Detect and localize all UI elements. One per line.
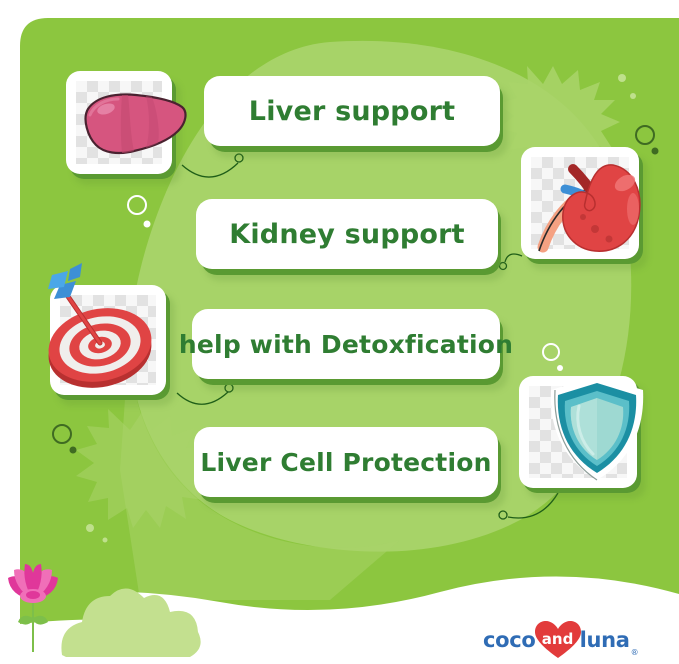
brand-logo[interactable]: coco and luna ® — [483, 620, 639, 660]
bottom-left-green-strip — [20, 560, 130, 624]
benefit-label: Kidney support — [229, 221, 465, 248]
icon-tile-target[interactable] — [50, 285, 166, 395]
target-icon — [50, 285, 166, 395]
icon-tile-liver[interactable] — [66, 71, 172, 174]
logo-heart-icon: and — [533, 620, 583, 660]
icon-tile-kidney[interactable] — [521, 147, 639, 259]
logo-word-and: and — [542, 632, 574, 647]
logo-word-luna: luna — [580, 630, 630, 651]
infographic-canvas: Liver support Kidney support help with D… — [0, 0, 679, 664]
benefit-card-cell-protection[interactable]: Liver Cell Protection — [194, 427, 498, 497]
benefit-label: Liver Cell Protection — [200, 450, 491, 475]
benefit-card-detoxfication[interactable]: help with Detoxfication — [192, 309, 500, 379]
benefit-label: help with Detoxfication — [179, 332, 513, 357]
kidney-icon — [521, 147, 639, 259]
liver-icon — [66, 71, 172, 174]
icon-tile-shield[interactable] — [519, 376, 637, 488]
shield-icon — [519, 376, 637, 488]
benefit-card-liver-support[interactable]: Liver support — [204, 76, 500, 146]
benefit-card-kidney-support[interactable]: Kidney support — [196, 199, 498, 269]
benefit-label: Liver support — [249, 98, 455, 125]
logo-word-coco: coco — [483, 630, 536, 651]
registered-trademark-mark: ® — [631, 648, 639, 657]
